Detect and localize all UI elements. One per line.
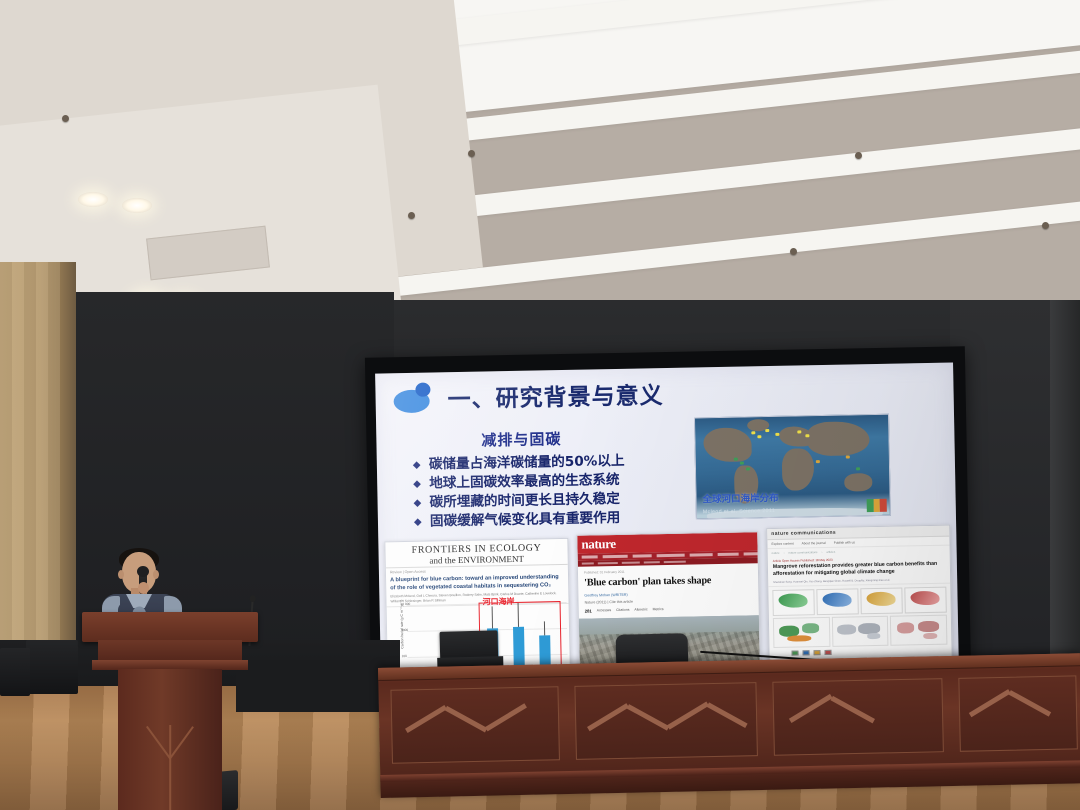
conference-hall-photo: 一、研究背景与意义 减排与固碳 ◆ 碳储量占海洋碳储量的50%以上 ◆ 地球上固… <box>0 0 1080 810</box>
article-title: 'Blue carbon' plan takes shape <box>584 574 752 589</box>
chevron-decoration <box>707 702 748 728</box>
monitor-left-secondary <box>0 648 30 696</box>
map-region <box>897 622 915 633</box>
breadcrumb-item-journal[interactable]: nature communications <box>788 550 817 555</box>
figure-map-panel <box>890 615 947 646</box>
article-metrics: 281 Accesses Citations Altmetric Metrics <box>585 605 753 613</box>
chart-annotation-label: 河口海岸 <box>482 596 514 608</box>
ceiling <box>0 0 1080 330</box>
circle-small-icon <box>415 383 430 397</box>
bullet-text: 碳所埋藏的时间更长且持久稳定 <box>429 491 620 512</box>
figure-map-panel <box>832 616 889 647</box>
hand <box>138 582 149 594</box>
sprinkler-head <box>1042 222 1049 229</box>
legend-swatch-red <box>825 650 832 655</box>
figure-shape <box>910 591 939 605</box>
map-hotspot-marker <box>797 430 801 433</box>
figure-panel <box>816 588 858 615</box>
bullet-marker-icon: ◆ <box>413 495 429 512</box>
figure-panel <box>860 588 902 615</box>
nav-item-publish[interactable]: Publish with us <box>834 540 855 544</box>
nav-item[interactable] <box>718 553 739 556</box>
legend-swatch-blue <box>803 650 810 655</box>
chevron-decoration <box>405 705 447 733</box>
map-hotspot-marker <box>751 431 755 434</box>
journal-masthead: FRONTIERS IN ECOLOGY and the ENVIRONMENT <box>385 539 567 568</box>
map-region <box>923 633 937 639</box>
legend-swatch-yellow <box>814 650 821 655</box>
recessed-downlight <box>78 192 108 207</box>
chevron-decoration <box>969 689 1011 717</box>
table-front-panel <box>390 686 560 764</box>
breadcrumb-item-articles[interactable]: articles <box>826 550 835 554</box>
map-region <box>787 635 811 642</box>
bullet-text: 地球上固碳效率最高的生态系统 <box>429 472 620 493</box>
map-hotspot-marker <box>734 458 738 461</box>
chevron-decoration <box>789 694 833 723</box>
chevron-decoration <box>485 703 527 731</box>
table-front-panel <box>574 682 758 760</box>
ear-right <box>153 570 159 579</box>
sprinkler-head <box>468 150 475 157</box>
chevron-decoration <box>445 706 488 733</box>
map-hotspot-marker <box>757 435 761 438</box>
chart-y-tick: 100 <box>402 654 407 658</box>
figure-row-maps <box>769 613 952 648</box>
figure-shape <box>822 593 851 607</box>
metric-accesses-count: 281 <box>585 608 592 613</box>
slide-decoration-dots <box>393 382 438 413</box>
microphone-head <box>137 566 149 577</box>
podium-bevel-left <box>146 726 171 759</box>
figure-panel <box>772 589 814 616</box>
sprinkler-head <box>855 152 862 159</box>
map-hotspot-marker <box>846 455 850 458</box>
list-item: ◆ 固碳缓解气候变化具有重要作用 <box>414 508 704 531</box>
breadcrumb-item[interactable] <box>582 562 594 564</box>
slide-title: 一、研究背景与意义 <box>447 376 664 414</box>
nav-item[interactable] <box>744 553 758 556</box>
map-hotspot-marker <box>856 467 860 470</box>
bullet-marker-icon: ◆ <box>413 476 429 493</box>
map-region <box>918 621 940 632</box>
conference-table <box>378 653 1080 798</box>
world-map-figure: 全球河口海岸分布 Mcleod et al. Science 2011 <box>694 414 891 520</box>
recessed-downlight <box>122 198 152 213</box>
slide-bullet-list: ◆ 碳储量占海洋碳储量的50%以上 ◆ 地球上固碳效率最高的生态系统 ◆ 碳所埋… <box>413 451 704 533</box>
metric-metrics-link[interactable]: Metrics <box>653 607 664 611</box>
nature-header-bar: nature <box>577 532 757 553</box>
slide-subtitle: 减排与固碳 <box>481 428 561 451</box>
chevron-decoration <box>667 701 709 729</box>
nav-item[interactable] <box>657 554 684 557</box>
chevron-decoration <box>627 704 670 731</box>
bullet-marker-icon: ◆ <box>414 514 430 531</box>
map-hotspot-marker <box>775 433 779 436</box>
sprinkler-head <box>408 212 415 219</box>
figure-shape <box>778 594 807 608</box>
table-front-panel <box>772 678 944 756</box>
nav-item[interactable] <box>689 553 712 556</box>
podium-top <box>82 612 258 642</box>
nav-item[interactable] <box>582 556 598 559</box>
nav-item-about-journal[interactable]: About the journal <box>802 541 826 545</box>
breadcrumb-sep: › <box>821 550 822 554</box>
breadcrumb-sep: › <box>784 551 785 555</box>
map-landmass-asia <box>807 421 870 456</box>
wall-panel-edge <box>60 262 76 692</box>
sprinkler-head <box>62 115 69 122</box>
podium <box>82 612 258 808</box>
monitor-left <box>26 640 78 694</box>
table-front-panel <box>958 675 1078 751</box>
nc-logo: nature communications <box>771 528 945 537</box>
map-landmass-australia <box>844 473 872 492</box>
breadcrumb-item[interactable] <box>598 562 618 565</box>
podium-column <box>118 669 222 810</box>
map-region <box>867 633 880 639</box>
map-region <box>802 623 819 633</box>
map-hotspot-marker <box>746 467 750 470</box>
breadcrumb-item-nature[interactable]: nature <box>772 551 780 555</box>
chevron-decoration <box>831 696 875 724</box>
breadcrumb-item[interactable] <box>622 561 640 564</box>
ear-left <box>118 570 124 579</box>
metric-citations-label: Citations <box>616 608 629 612</box>
chevron-decoration <box>1008 690 1051 717</box>
map-legend <box>867 499 887 512</box>
nav-item[interactable] <box>602 555 627 558</box>
breadcrumb-item[interactable] <box>664 561 686 564</box>
nature-article-body: Published: 01 February 2011 'Blue carbon… <box>578 563 759 613</box>
stage-riser <box>236 660 386 712</box>
nature-logo: nature <box>581 536 616 553</box>
breadcrumb-item[interactable] <box>644 561 660 563</box>
map-region <box>837 625 856 635</box>
sprinkler-head <box>790 248 797 255</box>
map-caption: 全球河口海岸分布 <box>702 490 778 505</box>
map-hotspot-marker <box>740 462 744 465</box>
bullet-marker-icon: ◆ <box>413 457 429 474</box>
wall-pillar-right <box>1050 300 1080 700</box>
legend-swatch-green <box>792 651 799 656</box>
podium-neck <box>98 640 242 662</box>
bullet-text: 固碳缓解气候变化具有重要作用 <box>430 510 621 531</box>
podium-bevel-right <box>169 726 194 759</box>
laptop-screen <box>439 630 498 660</box>
figure-shape <box>866 592 895 606</box>
metric-accesses-label: Accesses <box>597 608 612 612</box>
chevron-decoration <box>587 703 629 731</box>
article-publish-date: Published: 01 February 2011 <box>584 567 752 574</box>
nav-item[interactable] <box>633 555 653 558</box>
bullet-text: 碳储量占海洋碳储量的50%以上 <box>429 453 625 474</box>
legend-swatch-red <box>880 499 887 512</box>
figure-row-top <box>768 584 951 616</box>
map-hotspot-marker <box>816 460 820 463</box>
nav-item-explore-content[interactable]: Explore content <box>771 542 793 546</box>
article-citation[interactable]: Nature (2011) | Cite this article <box>585 597 753 604</box>
map-hotspot-marker <box>765 429 769 432</box>
figure-panel <box>904 587 946 614</box>
journal-panel-nature-communications: nature communications Explore content Ab… <box>766 525 953 679</box>
map-hotspot-marker <box>805 434 809 437</box>
table-base-moulding <box>380 760 1080 782</box>
metric-altmetric-label: Altmetric <box>634 608 647 612</box>
article-authors[interactable]: Geoffrey Mohan (WRITER) <box>584 590 752 597</box>
figure-map-panel <box>773 617 830 648</box>
